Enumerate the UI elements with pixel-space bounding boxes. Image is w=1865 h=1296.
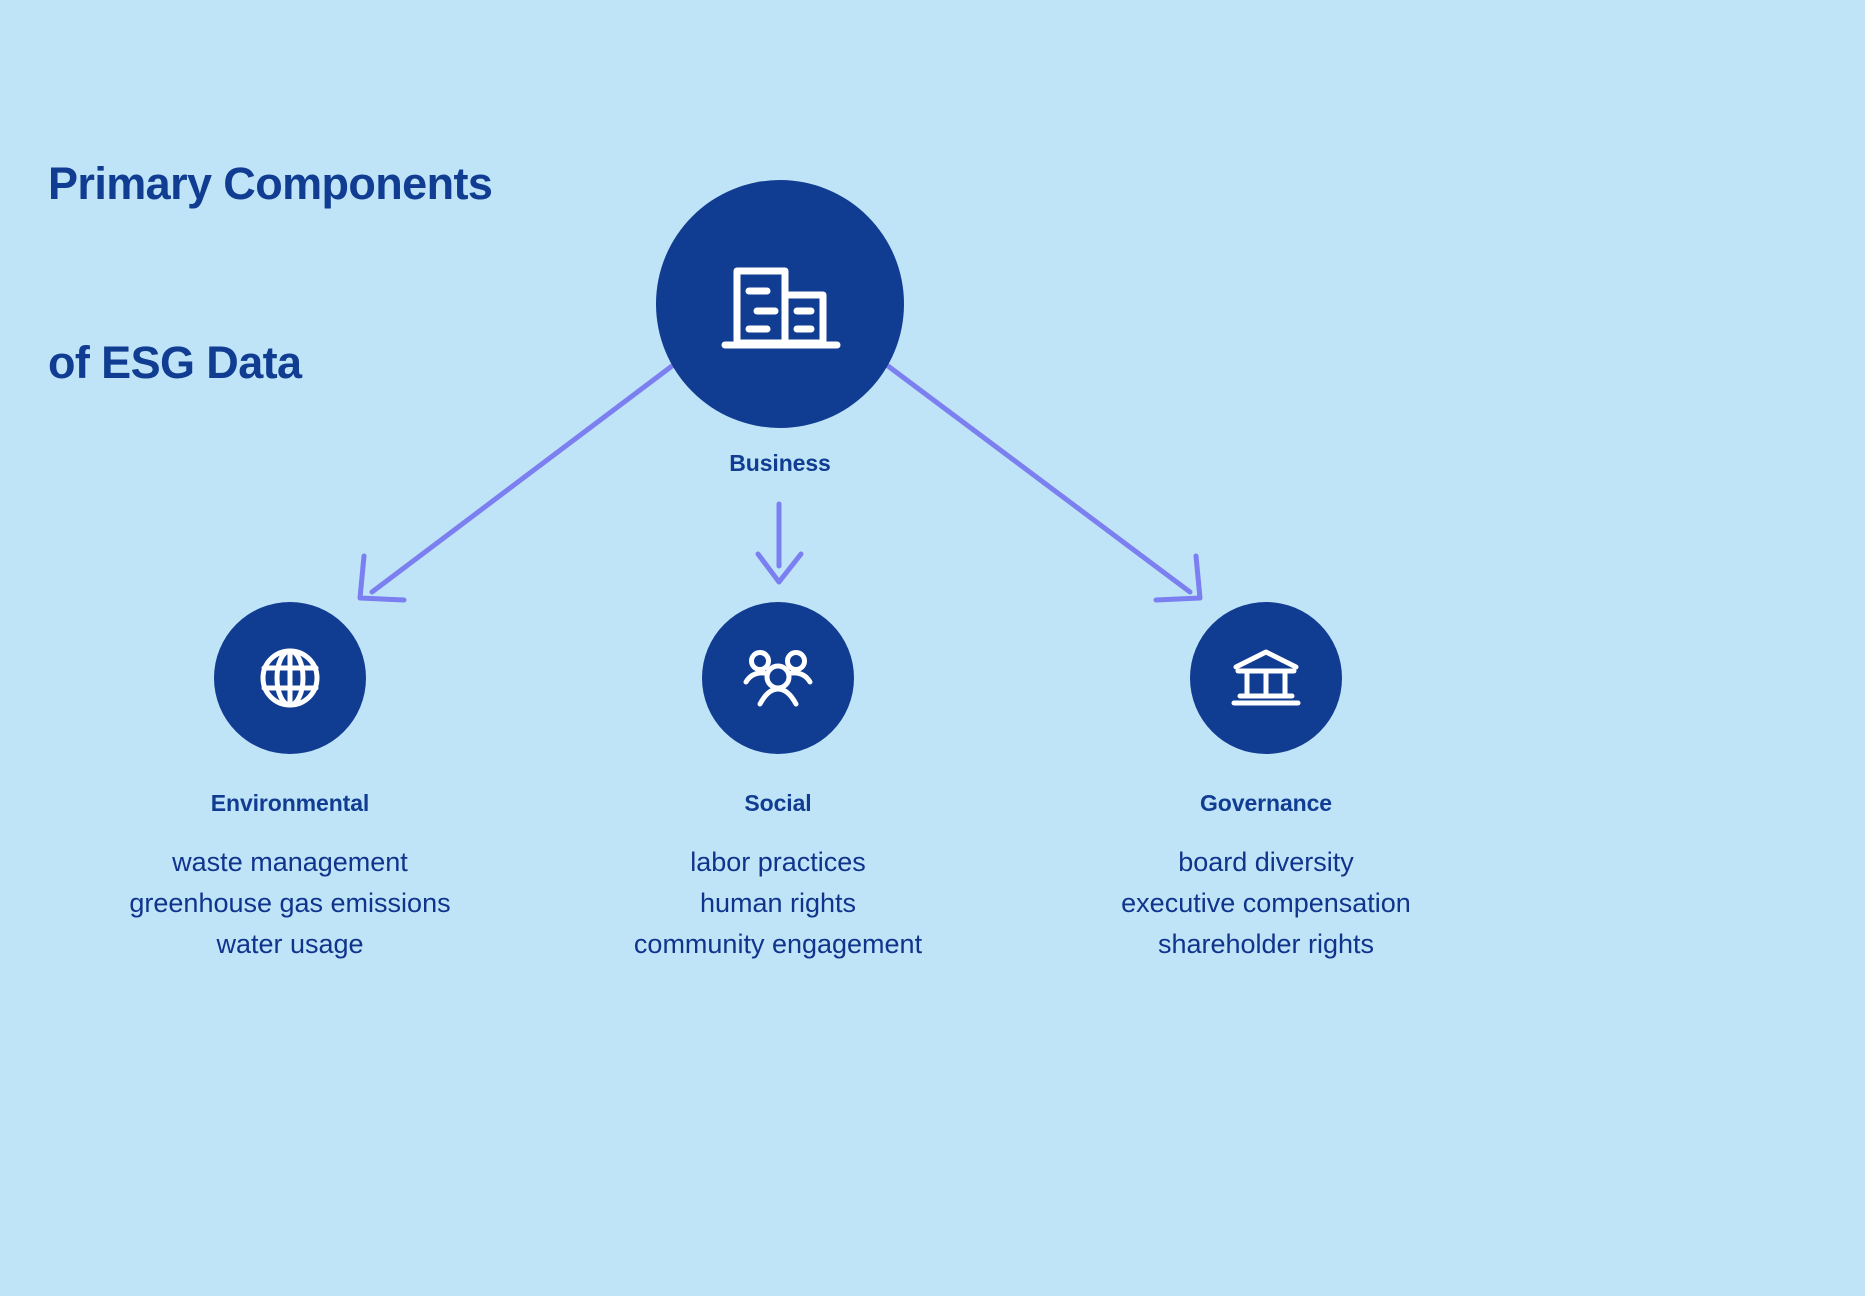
list-item: executive compensation [1040, 883, 1492, 924]
arrow-business-to-governance [888, 366, 1200, 600]
node-social[interactable]: Social labor practices human rights comm… [552, 602, 1004, 965]
node-social-items: labor practices human rights community e… [552, 842, 1004, 965]
node-business-circle [656, 180, 904, 428]
globe-icon [256, 644, 324, 712]
arrow-business-to-social [758, 504, 801, 582]
list-item: water usage [64, 924, 516, 965]
list-item: community engagement [552, 924, 1004, 965]
node-business[interactable]: Business [656, 180, 904, 477]
node-governance-circle [1190, 602, 1342, 754]
people-group-icon [741, 646, 815, 710]
node-environmental-items: waste management greenhouse gas emission… [64, 842, 516, 965]
list-item: board diversity [1040, 842, 1492, 883]
node-environmental-label: Environmental [64, 790, 516, 817]
page-title-line-2: of ESG Data [48, 333, 492, 393]
node-governance-items: board diversity executive compensation s… [1040, 842, 1492, 965]
page-title-line-1: Primary Components [48, 154, 492, 214]
list-item: waste management [64, 842, 516, 883]
node-governance[interactable]: Governance board diversity executive com… [1040, 602, 1492, 965]
node-environmental[interactable]: Environmental waste management greenhous… [64, 602, 516, 965]
list-item: human rights [552, 883, 1004, 924]
list-item: greenhouse gas emissions [64, 883, 516, 924]
list-item: shareholder rights [1040, 924, 1492, 965]
list-item: labor practices [552, 842, 1004, 883]
node-business-label: Business [656, 450, 904, 477]
node-environmental-circle [214, 602, 366, 754]
office-building-icon [715, 249, 845, 359]
node-social-circle [702, 602, 854, 754]
node-social-label: Social [552, 790, 1004, 817]
page-title: Primary Components of ESG Data [48, 34, 492, 513]
diagram-canvas: Primary Components of ESG Data [0, 0, 1865, 1296]
node-governance-label: Governance [1040, 790, 1492, 817]
bank-institution-icon [1229, 646, 1303, 710]
